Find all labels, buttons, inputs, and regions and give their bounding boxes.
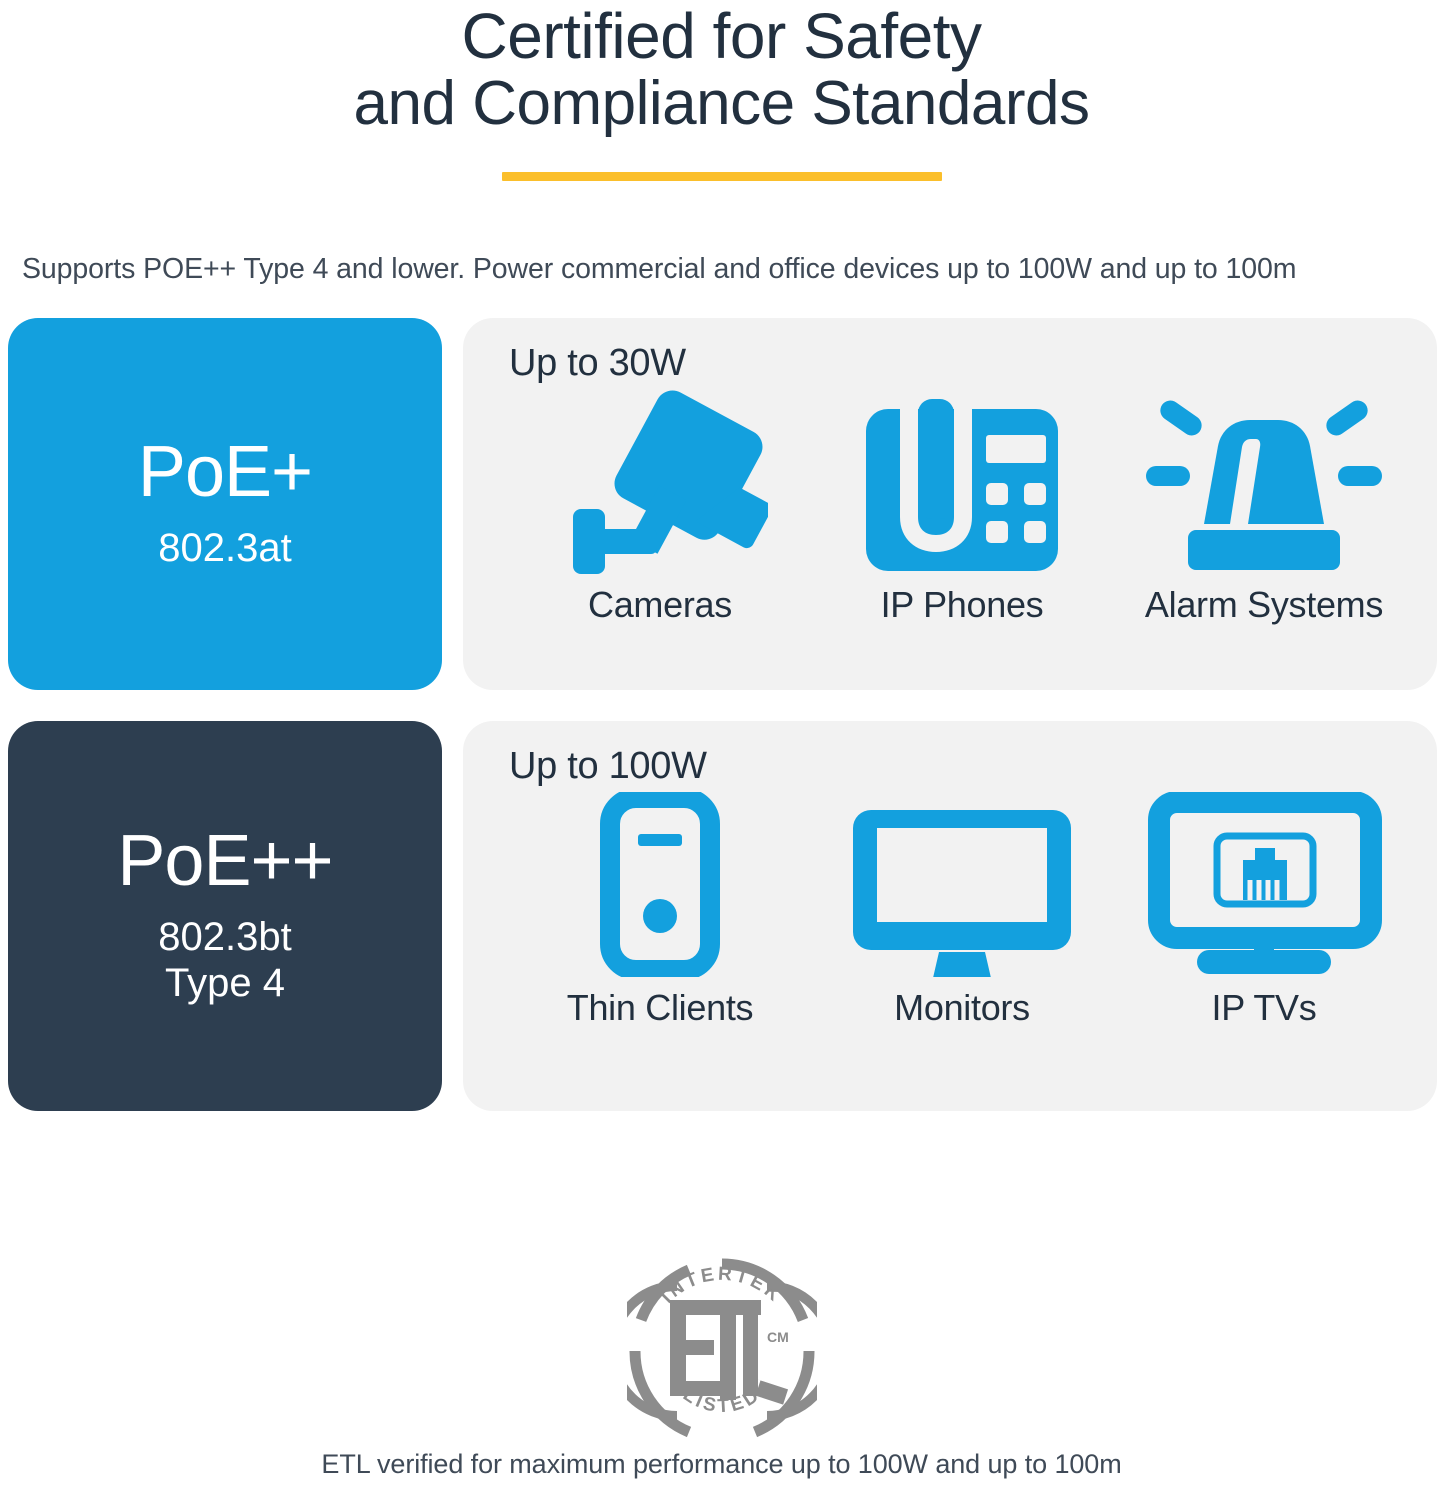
etl-superscript: CM xyxy=(767,1329,789,1345)
poe-plusplus-badge-standard: 802.3bt Type 4 xyxy=(158,915,291,1006)
poe-plusplus-standard-line: 802.3bt xyxy=(158,915,291,961)
page-title-line-2: and Compliance Standards xyxy=(0,71,1443,138)
device-alarm-systems: Alarm Systems xyxy=(1113,394,1415,626)
poe-plusplus-row: PoE++ 802.3bt Type 4 Up to 100W xyxy=(8,721,1437,1111)
device-label-alarm-systems: Alarm Systems xyxy=(1145,584,1383,626)
poe-plusplus-type-line: Type 4 xyxy=(158,961,291,1007)
device-label-monitors: Monitors xyxy=(894,987,1030,1029)
page-title-line-1: Certified for Safety xyxy=(0,2,1443,71)
device-cameras: Cameras xyxy=(509,389,811,626)
poe-plus-device-list: Cameras xyxy=(509,389,1423,626)
poe-plusplus-badge: PoE++ 802.3bt Type 4 xyxy=(8,721,442,1111)
page-footer: INTERTEK LISTED CM ETL verified for maxi… xyxy=(0,1256,1443,1500)
etl-listed-icon: INTERTEK LISTED CM xyxy=(627,1256,817,1441)
device-monitors: Monitors xyxy=(811,802,1113,1029)
poe-plusplus-badge-title: PoE++ xyxy=(117,825,332,897)
etl-mark-wrap: INTERTEK LISTED CM xyxy=(0,1256,1443,1441)
security-camera-icon xyxy=(553,389,768,574)
device-ip-phones: IP Phones xyxy=(811,399,1113,626)
poe-plus-badge-title: PoE+ xyxy=(138,436,312,508)
poe-plus-row: PoE+ 802.3at Up to 30W xyxy=(8,318,1437,690)
poe-plusplus-device-list: Thin Clients Monitors xyxy=(509,792,1423,1029)
monitor-icon xyxy=(847,802,1077,977)
subtitle-text: Supports POE++ Type 4 and lower. Power c… xyxy=(0,253,1443,286)
device-ip-tvs: IP TVs xyxy=(1113,792,1415,1029)
title-underline-wrap xyxy=(0,172,1443,181)
poe-plus-badge-standard: 802.3at xyxy=(158,526,291,572)
title-accent-underline xyxy=(502,172,942,181)
ip-phone-icon xyxy=(862,399,1062,574)
poe-plusplus-power-heading: Up to 100W xyxy=(509,745,1423,788)
poe-plus-badge: PoE+ 802.3at xyxy=(8,318,442,690)
device-label-cameras: Cameras xyxy=(588,584,732,626)
poe-comparison-rows: PoE+ 802.3at Up to 30W xyxy=(0,318,1443,1111)
page-header: Certified for Safety and Compliance Stan… xyxy=(0,0,1443,181)
poe-plus-device-panel: Up to 30W xyxy=(463,318,1437,690)
device-label-ip-tvs: IP TVs xyxy=(1212,987,1317,1029)
device-thin-clients: Thin Clients xyxy=(509,792,811,1029)
device-label-ip-phones: IP Phones xyxy=(881,584,1044,626)
alarm-siren-icon xyxy=(1144,394,1384,574)
thin-client-icon xyxy=(600,792,720,977)
poe-plusplus-device-panel: Up to 100W Thin Clients xyxy=(463,721,1437,1111)
device-label-thin-clients: Thin Clients xyxy=(567,987,753,1029)
ip-tv-icon xyxy=(1147,792,1382,977)
poe-plus-power-heading: Up to 30W xyxy=(509,342,1423,385)
etl-footer-note: ETL verified for maximum performance up … xyxy=(0,1449,1443,1500)
